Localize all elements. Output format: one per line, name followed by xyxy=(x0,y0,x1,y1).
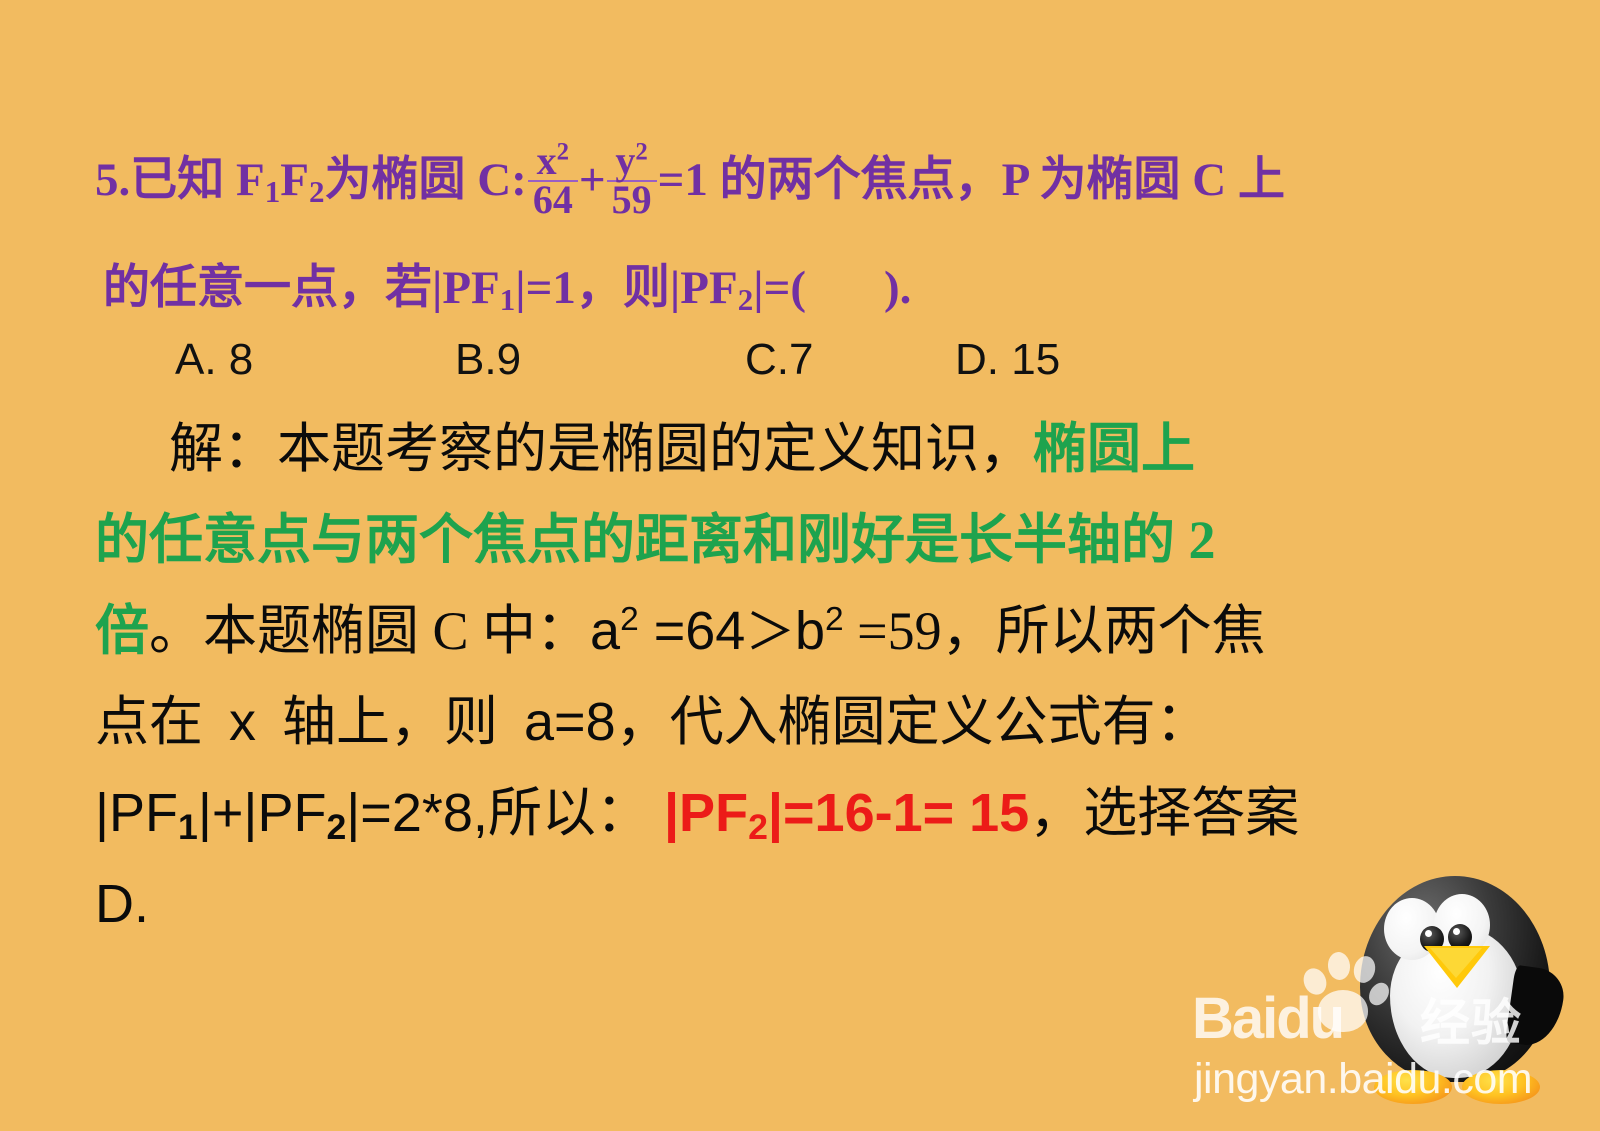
fraction-x-squared-over-64: x264 xyxy=(528,143,578,219)
variable-b-exponent: 2 xyxy=(825,601,844,638)
pf1-term-subscript: 1 xyxy=(178,807,198,847)
numerator-exponent-x: 2 xyxy=(557,139,569,166)
numerator-exponent-y: 2 xyxy=(635,139,647,166)
solution-line-2: 的任意点与两个焦点的距离和刚好是长半轴的 2 xyxy=(95,495,1525,586)
solution-line3-text-c: =59，所以两个焦 xyxy=(844,601,1266,661)
solution-intro-text: 解：本题考察的是椭圆的定义知识， xyxy=(169,419,1033,479)
paw-toe-3 xyxy=(1351,954,1378,985)
focus-f2-label: F xyxy=(280,154,309,206)
equals-one: =1 xyxy=(658,154,708,206)
slide-canvas: 5.已知 F1F2为椭圆 C:x264+y259=1 的两个焦点，P 为椭圆 C… xyxy=(0,0,1600,1131)
result-value: |=16-1= 15 xyxy=(768,783,1029,843)
solution-highlight-middle: 的任意点与两个焦点的距离和刚好是长半轴的 2 xyxy=(95,510,1216,570)
answer-choices: A. 8B.9C.7D. 15 xyxy=(175,335,1175,391)
pf2-term-subscript: 2 xyxy=(326,807,346,847)
variable-b: b xyxy=(795,601,825,661)
paw-toe-2 xyxy=(1327,951,1352,981)
problem-seg-3: 的两个焦点，P 为椭圆 C 上 xyxy=(720,154,1285,206)
curve-label: C: xyxy=(477,154,527,206)
variable-a-exponent: 2 xyxy=(620,601,639,638)
baidu-brand-text: Baidu xyxy=(1192,990,1343,1048)
result-pf2-subscript: 2 xyxy=(748,807,768,847)
solution-line-3: 倍。本题椭圆 C 中：a2 =64＞b2 =59，所以两个焦 xyxy=(95,586,1525,677)
solution-line4-seg-2: 轴上，则 xyxy=(282,692,498,752)
jingyan-brand-text: 经验 xyxy=(1420,998,1522,1048)
solution-line4-seg-3: ，代入椭圆定义公式有： xyxy=(616,692,1210,752)
choice-b[interactable]: B.9 xyxy=(455,335,745,385)
pf1-subscript: 1 xyxy=(500,282,516,317)
problem-line2-seg-4: ). xyxy=(884,262,911,314)
solution-line-5: |PF1|+|PF2|=2*8,所以：|PF2|=16-1= 15，选择答案 xyxy=(95,768,1525,859)
focus-f2-subscript: 2 xyxy=(309,174,325,209)
pf-sum-equation: |=2*8, xyxy=(346,783,488,843)
solution-line-1: 解：本题考察的是椭圆的定义知识，椭圆上 xyxy=(95,404,1525,495)
choice-c[interactable]: C.7 xyxy=(745,335,955,385)
penguin-eye-glint-right xyxy=(1453,928,1460,935)
problem-line-1: 5.已知 F1F2为椭圆 C:x264+y259=1 的两个焦点，P 为椭圆 C… xyxy=(95,126,1515,234)
fraction-y-squared-over-59: y259 xyxy=(607,143,657,219)
focus-f1-subscript: 1 xyxy=(265,174,281,209)
problem-seg-1: 已知 xyxy=(130,154,224,206)
pf1-term: |PF xyxy=(95,783,178,843)
focus-f1-label: F xyxy=(236,154,265,206)
solution-line3-text-a: 。本题椭圆 C 中： xyxy=(149,601,590,661)
problem-line2-seg-1: 的任意一点，若|PF xyxy=(103,262,500,314)
problem-statement: 5.已知 F1F2为椭圆 C:x264+y259=1 的两个焦点，P 为椭圆 C… xyxy=(95,126,1515,342)
therefore-text: 所以： xyxy=(488,783,650,843)
choice-d[interactable]: D. 15 xyxy=(955,335,1155,385)
result-pf2-label: |PF xyxy=(664,783,748,843)
baidu-jingyan-watermark: Baidu 经验 jingyan.baidu.com xyxy=(1192,862,1592,1130)
choice-a[interactable]: A. 8 xyxy=(175,335,455,385)
solution-highlight-start: 椭圆上 xyxy=(1033,419,1195,479)
fraction-denominator-64: 64 xyxy=(528,182,578,219)
solution-highlight-end: 倍 xyxy=(95,601,149,661)
greater-than-operator: ＞ xyxy=(745,604,795,660)
problem-line2-seg-3: |=( xyxy=(753,262,806,314)
problem-line-2: 的任意一点，若|PF1|=1，则|PF2|=(). xyxy=(95,234,1515,342)
watermark-url: jingyan.baidu.com xyxy=(1194,1058,1532,1101)
conclusion-text: ，选择答案 xyxy=(1029,783,1299,843)
problem-seg-2: 为椭圆 xyxy=(324,154,465,206)
plus-operator: + xyxy=(579,154,606,206)
axis-variable-x: x xyxy=(229,692,256,752)
problem-line2-seg-2: |=1，则|PF xyxy=(515,262,737,314)
solution-line4-seg-1: 点在 xyxy=(95,692,203,752)
pf2-subscript: 2 xyxy=(738,282,754,317)
variable-a: a xyxy=(590,601,620,661)
final-answer: D. xyxy=(95,874,149,934)
a-squared-value: =64 xyxy=(639,601,746,661)
penguin-eye-glint-left xyxy=(1425,930,1432,937)
problem-number: 5. xyxy=(95,154,130,206)
fraction-denominator-59: 59 xyxy=(607,182,657,219)
pf-sum-middle: |+|PF xyxy=(198,783,327,843)
penguin-beak-highlight xyxy=(1430,948,1482,978)
solution-line-4: 点在x轴上，则a=8，代入椭圆定义公式有： xyxy=(95,677,1525,768)
semi-axis-value: a=8 xyxy=(524,692,616,752)
